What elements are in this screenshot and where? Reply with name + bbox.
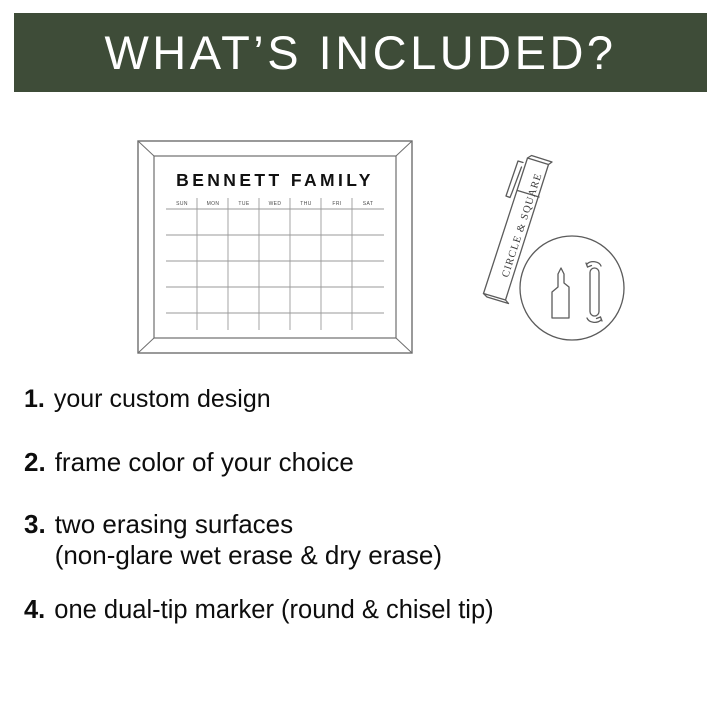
calendar-day-header: MON — [207, 201, 220, 207]
calendar-day-header: THU — [300, 201, 311, 207]
list-item: 2. frame color of your choice — [0, 447, 720, 478]
list-item-text: one dual-tip marker (round & chisel tip) — [54, 595, 493, 625]
included-items-list: 1. your custom design 2. frame color of … — [0, 385, 720, 625]
list-item-number: 3. — [24, 509, 46, 540]
list-item-number: 4. — [24, 595, 45, 625]
list-item-number: 1. — [24, 385, 45, 415]
calendar-day-header: WED — [269, 201, 282, 207]
list-item-number: 2. — [24, 447, 46, 478]
calendar-board-illustration: BENNETT FAMILY SUN MON TUE WED THU FRI S… — [137, 140, 413, 354]
page-title: WHAT’S INCLUDED? — [104, 29, 616, 76]
calendar-day-header: TUE — [238, 201, 249, 207]
header-banner: WHAT’S INCLUDED? — [14, 13, 707, 92]
list-item: 3. two erasing surfaces (non-glare wet e… — [0, 509, 720, 570]
calendar-board-title: BENNETT FAMILY — [176, 170, 374, 190]
marker-tip-detail-circle — [520, 236, 624, 340]
product-illustration-area: BENNETT FAMILY SUN MON TUE WED THU FRI S… — [0, 100, 720, 375]
calendar-day-header: FRI — [332, 201, 341, 207]
list-item-text: your custom design — [54, 385, 271, 415]
marker-illustration: CIRCLE & SQUARE — [468, 150, 643, 365]
calendar-day-header: SAT — [363, 201, 374, 207]
calendar-day-header: SUN — [176, 201, 188, 207]
list-item-text: two erasing surfaces (non-glare wet eras… — [55, 509, 442, 570]
marker-cap-top — [528, 156, 553, 165]
list-item-text: frame color of your choice — [55, 447, 354, 478]
list-item: 4. one dual-tip marker (round & chisel t… — [0, 595, 720, 625]
list-item: 1. your custom design — [0, 385, 720, 415]
